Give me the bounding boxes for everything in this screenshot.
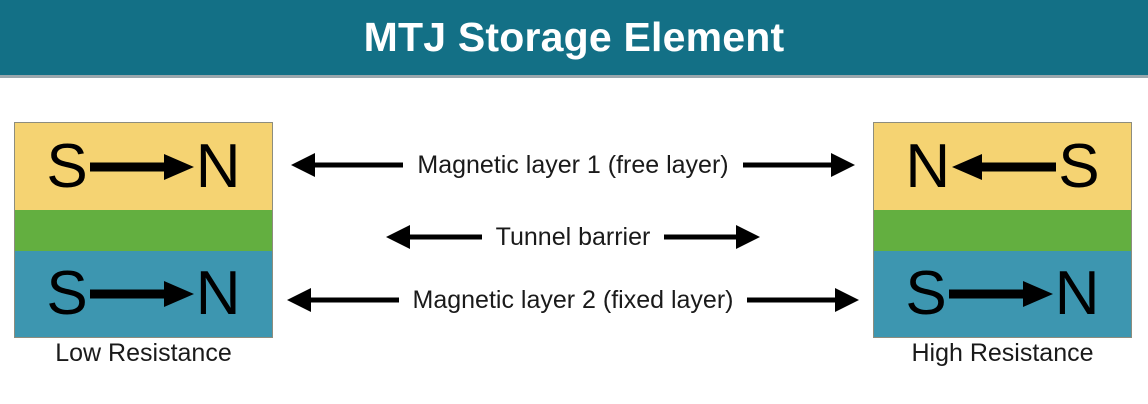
pole-right-label: N (1055, 263, 1100, 325)
pole-left-label: N (905, 136, 950, 198)
arrow-head (164, 154, 194, 180)
mtj-stack-high-resistance: N S S N (873, 122, 1132, 338)
arrow-shaft (408, 235, 482, 240)
arrow-head (287, 288, 311, 312)
spin-row: N S (874, 123, 1131, 210)
tunnel-barrier-left (15, 210, 272, 251)
arrow-shaft (747, 298, 837, 303)
caption-low-resistance: Low Resistance (14, 341, 273, 366)
annotation-label-fixed-layer: Magnetic layer 2 (fixed layer) (399, 288, 748, 313)
mtj-diagram: S N S N N (0, 78, 1148, 404)
spin-row: S N (15, 251, 272, 337)
annotation-row-tunnel-barrier: Tunnel barrier (273, 211, 873, 263)
fixed-layer-right: S N (874, 251, 1131, 337)
callout-arrow-right-icon (743, 153, 855, 177)
pole-left-label: S (46, 263, 87, 325)
arrow-head (291, 153, 315, 177)
callout-arrow-right-icon (747, 288, 859, 312)
callout-arrow-left-icon (291, 153, 403, 177)
arrow-shaft (309, 298, 399, 303)
callout-arrow-right-icon (664, 225, 760, 249)
pole-right-label: N (196, 263, 241, 325)
arrow-shaft (90, 290, 168, 299)
mtj-stack-low-resistance: S N S N (14, 122, 273, 338)
arrow-head (952, 154, 982, 180)
arrow-shaft (743, 163, 833, 168)
spin-row: S N (15, 123, 272, 210)
annotation-label-free-layer: Magnetic layer 1 (free layer) (403, 153, 742, 178)
free-layer-left: S N (15, 123, 272, 210)
magnetization-arrow-left-icon (952, 154, 1056, 180)
pole-left-label: S (46, 136, 87, 198)
magnetization-arrow-right-icon (90, 154, 194, 180)
arrow-head (831, 153, 855, 177)
spin-row: S N (874, 251, 1131, 337)
arrow-head (386, 225, 410, 249)
arrow-head (835, 288, 859, 312)
fixed-layer-left: S N (15, 251, 272, 337)
caption-high-resistance: High Resistance (873, 341, 1132, 366)
annotation-label-tunnel-barrier: Tunnel barrier (482, 225, 665, 250)
arrow-shaft (664, 235, 738, 240)
pole-left-label: S (905, 263, 946, 325)
arrow-shaft (978, 162, 1056, 171)
arrow-head (1023, 281, 1053, 307)
arrow-head (736, 225, 760, 249)
header-bar: MTJ Storage Element (0, 0, 1148, 75)
tunnel-barrier-right (874, 210, 1131, 251)
arrow-shaft (90, 162, 168, 171)
magnetization-arrow-right-icon (90, 281, 194, 307)
annotation-row-fixed-layer: Magnetic layer 2 (fixed layer) (273, 274, 873, 326)
free-layer-right: N S (874, 123, 1131, 210)
pole-right-label: N (196, 136, 241, 198)
page-title: MTJ Storage Element (364, 17, 785, 58)
arrow-shaft (313, 163, 403, 168)
arrow-head (164, 281, 194, 307)
callout-arrow-left-icon (287, 288, 399, 312)
annotation-row-free-layer: Magnetic layer 1 (free layer) (273, 139, 873, 191)
callout-arrow-left-icon (386, 225, 482, 249)
pole-right-label: S (1058, 136, 1099, 198)
magnetization-arrow-right-icon (949, 281, 1053, 307)
arrow-shaft (949, 290, 1027, 299)
